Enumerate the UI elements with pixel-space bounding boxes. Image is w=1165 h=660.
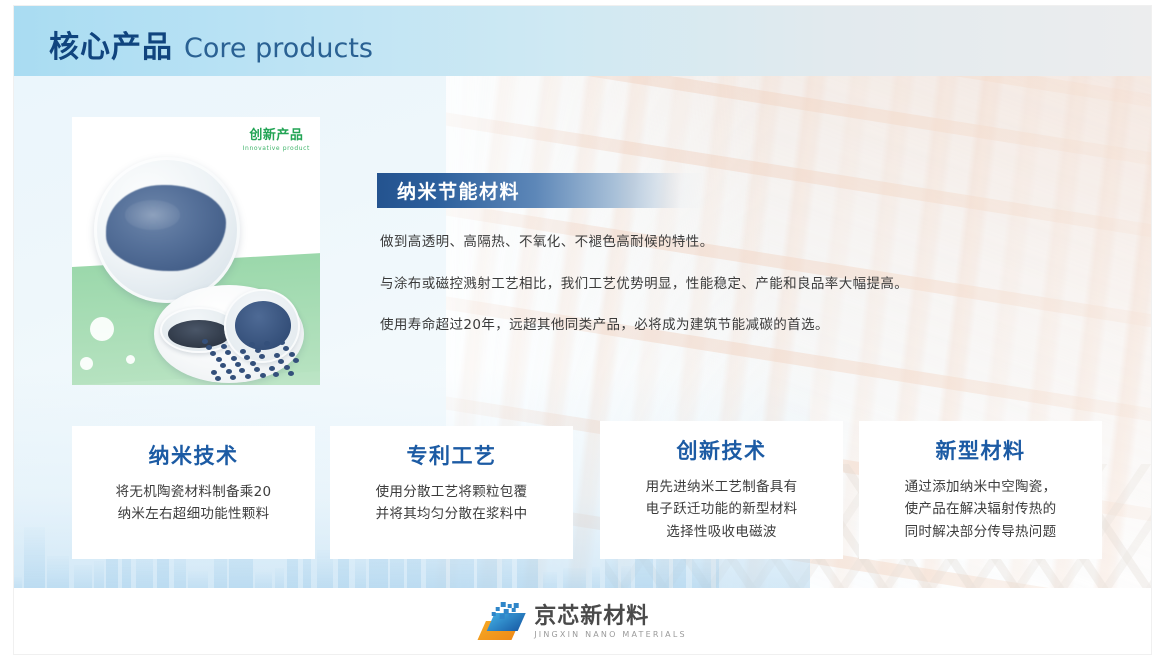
logo-pixel bbox=[491, 612, 495, 616]
logo-pixel bbox=[500, 602, 505, 607]
feature-card-line: 电子跃迁功能的新型材料 bbox=[600, 498, 843, 520]
feature-card[interactable]: 创新技术用先进纳米工艺制备具有电子跃迁功能的新型材料选择性吸收电磁波 bbox=[600, 421, 843, 559]
feature-card-title: 新型材料 bbox=[859, 435, 1102, 465]
feature-card-line: 使用分散工艺将颗粒包覆 bbox=[330, 481, 573, 503]
feature-card[interactable]: 新型材料通过添加纳米中空陶瓷，使产品在解决辐射传热的同时解决部分传导热问题 bbox=[859, 421, 1102, 559]
logo-name-en: JINGXIN NANO MATERIALS bbox=[534, 630, 687, 639]
logo-name-cn: 京芯新材料 bbox=[534, 605, 687, 628]
photo-badge: 创新产品 Innovative product bbox=[243, 124, 310, 152]
bubble-large bbox=[90, 317, 114, 341]
feature-card-line: 并将其均匀分散在浆料中 bbox=[330, 503, 573, 525]
feature-card-line: 使产品在解决辐射传热的 bbox=[859, 498, 1102, 520]
company-logo: 京芯新材料 JINGXIN NANO MATERIALS bbox=[478, 602, 687, 642]
feature-card-list: 纳米技术将无机陶瓷材料制备乘20纳米左右超细功能性颗料专利工艺使用分散工艺将颗粒… bbox=[72, 406, 1102, 566]
feature-card-line: 同时解决部分传导热问题 bbox=[859, 521, 1102, 543]
blue-powder bbox=[106, 185, 226, 271]
slide-canvas: 核心产品 Core products 创新产品 Innovative produ… bbox=[14, 6, 1151, 654]
feature-card-line: 纳米左右超细功能性颗料 bbox=[72, 503, 315, 525]
product-photo: 创新产品 Innovative product bbox=[72, 117, 320, 385]
feature-paragraphs: 做到高透明、高隔热、不氧化、不褪色高耐候的特性。与涂布或磁控溅射工艺相比，我们工… bbox=[380, 236, 1040, 361]
feature-card-title: 创新技术 bbox=[600, 435, 843, 465]
bubble-medium bbox=[80, 357, 93, 370]
feature-paragraph: 做到高透明、高隔热、不氧化、不褪色高耐候的特性。 bbox=[380, 236, 1040, 250]
logo-pixel bbox=[499, 614, 504, 619]
photo-badge-en: Innovative product bbox=[243, 145, 310, 152]
feature-card-title: 纳米技术 bbox=[72, 440, 315, 470]
photo-badge-cn: 创新产品 bbox=[243, 124, 310, 143]
feature-card-line: 将无机陶瓷材料制备乘20 bbox=[72, 481, 315, 503]
logo-pixel bbox=[511, 608, 515, 612]
logo-text: 京芯新材料 JINGXIN NANO MATERIALS bbox=[534, 605, 687, 639]
feature-card-title: 专利工艺 bbox=[330, 440, 573, 470]
logo-pixel bbox=[495, 607, 499, 611]
feature-card-line: 选择性吸收电磁波 bbox=[600, 521, 843, 543]
feature-card[interactable]: 专利工艺使用分散工艺将颗粒包覆并将其均匀分散在浆料中 bbox=[330, 426, 573, 559]
feature-card-line: 用先进纳米工艺制备具有 bbox=[600, 476, 843, 498]
logo-mark-icon bbox=[478, 602, 524, 642]
page-title-cn: 核心产品 bbox=[49, 22, 173, 66]
page-header: 核心产品 Core products bbox=[14, 6, 1151, 76]
blue-pellets bbox=[202, 339, 298, 381]
page-title-en: Core products bbox=[184, 33, 373, 64]
bubble-small bbox=[126, 355, 135, 364]
petri-dish-large-icon bbox=[94, 157, 240, 303]
feature-paragraph: 使用寿命超过20年，远超其他同类产品，必将成为建筑节能减碳的首选。 bbox=[380, 319, 1040, 333]
feature-card-line: 通过添加纳米中空陶瓷， bbox=[859, 476, 1102, 498]
page-title: 核心产品 Core products bbox=[49, 22, 373, 66]
feature-banner-title: 纳米节能材料 bbox=[377, 177, 520, 204]
logo-pixel bbox=[508, 613, 512, 617]
feature-card[interactable]: 纳米技术将无机陶瓷材料制备乘20纳米左右超细功能性颗料 bbox=[72, 426, 315, 559]
feature-paragraph: 与涂布或磁控溅射工艺相比，我们工艺优势明显，性能稳定、产能和良品率大幅提高。 bbox=[380, 278, 1040, 292]
feature-banner: 纳米节能材料 bbox=[377, 173, 707, 208]
slide: 核心产品 Core products 创新产品 Innovative produ… bbox=[0, 0, 1165, 660]
